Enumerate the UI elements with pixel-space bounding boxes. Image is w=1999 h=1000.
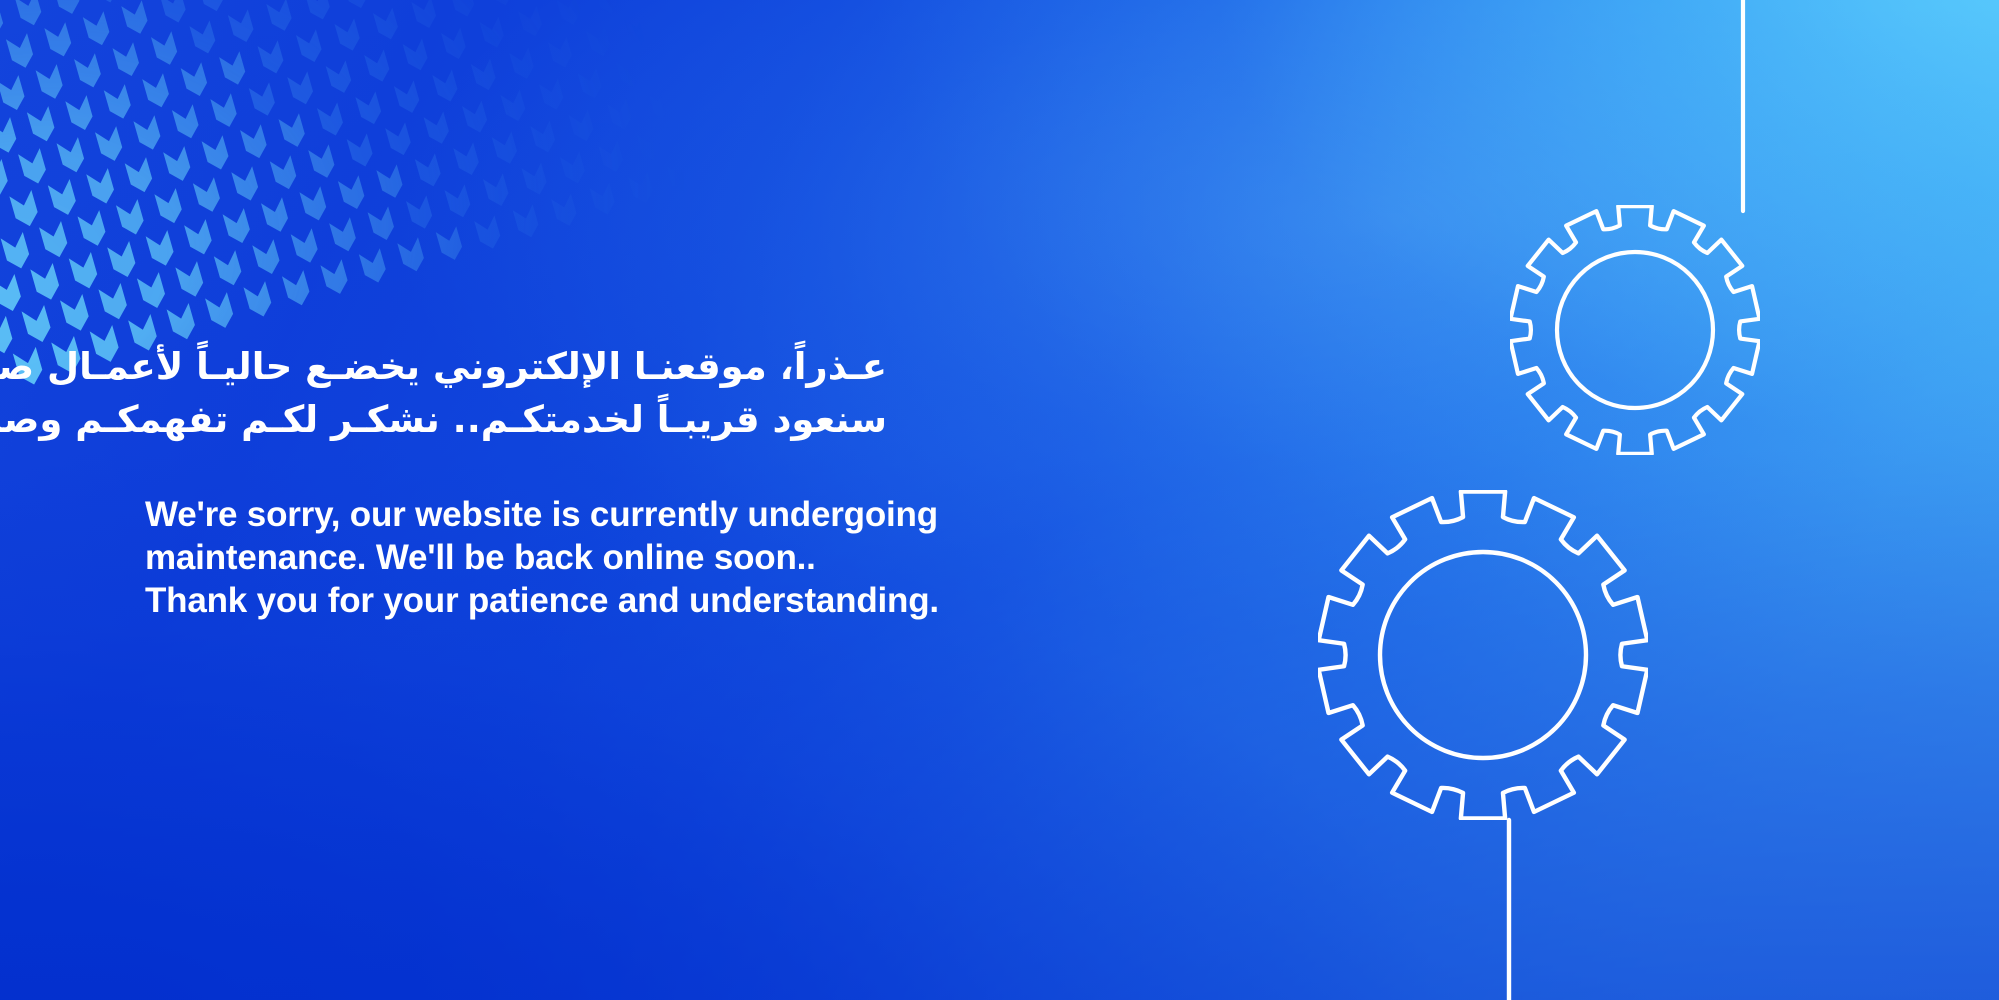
maintenance-page: عـذراً، موقعنـا الإلكتروني يخضـع حاليـاً… (0, 0, 1999, 1000)
english-line-1: We're sorry, our website is currently un… (145, 493, 1145, 536)
wire-top-connector-icon (1686, 0, 1806, 256)
gear-small-inner-circle (1557, 252, 1713, 408)
english-line-2: maintenance. We'll be back online soon.. (145, 536, 1145, 579)
arabic-line-2: سنعود قريبـاً لخدمتكـم.. نشكـر لكـم تفهم… (145, 393, 887, 446)
maintenance-message: عـذراً، موقعنـا الإلكتروني يخضـع حاليـاً… (145, 340, 1145, 622)
gear-large-inner-circle (1380, 552, 1586, 758)
gear-small-icon (1510, 205, 1760, 455)
gear-large-icon (1318, 490, 1648, 820)
english-message: We're sorry, our website is currently un… (145, 446, 1145, 622)
arabic-message: عـذراً، موقعنـا الإلكتروني يخضـع حاليـاً… (145, 340, 1145, 446)
english-line-3: Thank you for your patience and understa… (145, 579, 1145, 622)
wire-bottom-connector-icon (1470, 790, 1590, 1000)
arabic-line-1: عـذراً، موقعنـا الإلكتروني يخضـع حاليـاً… (145, 340, 887, 393)
